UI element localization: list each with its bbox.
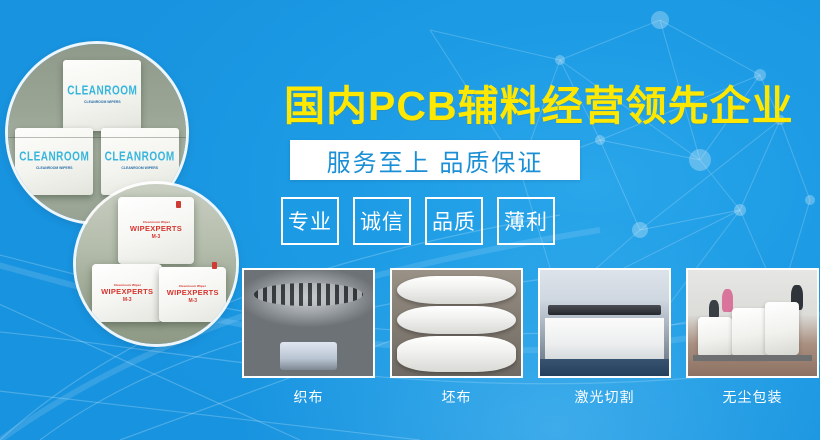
feature-tag-label: 诚信	[360, 206, 404, 236]
pack-label: CLEANROOM	[67, 86, 137, 99]
subtitle-text: 服务至上 品质保证	[327, 143, 544, 178]
pack-label: CLEANROOM	[19, 152, 89, 165]
pack-mark: M-3	[123, 297, 132, 303]
subtitle-box: 服务至上 品质保证	[290, 140, 580, 180]
process-thumbnail-strip: 织布 坯布 激光切割	[242, 268, 819, 407]
feature-tag-label: 专业	[288, 206, 332, 236]
process-step-laser: 激光切割	[538, 268, 671, 407]
thumbnail-caption: 无尘包装	[723, 387, 783, 407]
pack-toplabel: Cleanroom Wiper	[114, 283, 141, 287]
feature-tag-1: 专业	[281, 197, 339, 245]
thumbnail-caption: 织布	[294, 387, 324, 407]
process-step-packing: 无尘包装	[686, 268, 819, 407]
pack-label: WIPEXPERTS	[167, 288, 219, 297]
pack-label: CLEANROOM	[105, 152, 175, 165]
pack-toplabel: Cleanroom Wiper	[142, 220, 169, 224]
pack-sublabel: CLEANROOM WIPERS	[84, 100, 121, 104]
feature-tag-label: 品质	[432, 206, 476, 236]
process-step-weaving: 织布	[242, 268, 375, 407]
thumbnail-image-laser	[538, 268, 671, 378]
thumbnail-caption: 激光切割	[575, 387, 635, 407]
pack-mark: M-3	[152, 234, 161, 240]
pack-mark: M-3	[188, 298, 197, 304]
feature-tag-4: 薄利	[497, 197, 555, 245]
banner-headline: 国内PCB辅料经营领先企业	[284, 72, 794, 132]
feature-tag-3: 品质	[425, 197, 483, 245]
thumbnail-image-greige	[390, 268, 523, 378]
feature-tag-list: 专业 诚信 品质 薄利	[281, 197, 555, 245]
pack-sublabel: CLEANROOM WIPERS	[121, 166, 158, 170]
pack-sublabel: CLEANROOM WIPERS	[36, 166, 73, 170]
thumbnail-caption: 坯布	[442, 387, 472, 407]
pack-label: WIPEXPERTS	[130, 224, 182, 233]
feature-tag-label: 薄利	[504, 206, 548, 236]
promo-banner: CLEANROOM CLEANROOM WIPERS CLEANROOM CLE…	[0, 0, 820, 440]
pack-toplabel: Cleanroom Wiper	[179, 284, 206, 288]
thumbnail-image-weaving	[242, 268, 375, 378]
thumbnail-image-packing	[686, 268, 819, 378]
product-photo-wipexperts: Cleanroom Wiper WIPEXPERTS M-3 Cleanroom…	[76, 184, 236, 344]
pack-label: WIPEXPERTS	[101, 287, 153, 296]
process-step-greige: 坯布	[390, 268, 523, 407]
feature-tag-2: 诚信	[353, 197, 411, 245]
